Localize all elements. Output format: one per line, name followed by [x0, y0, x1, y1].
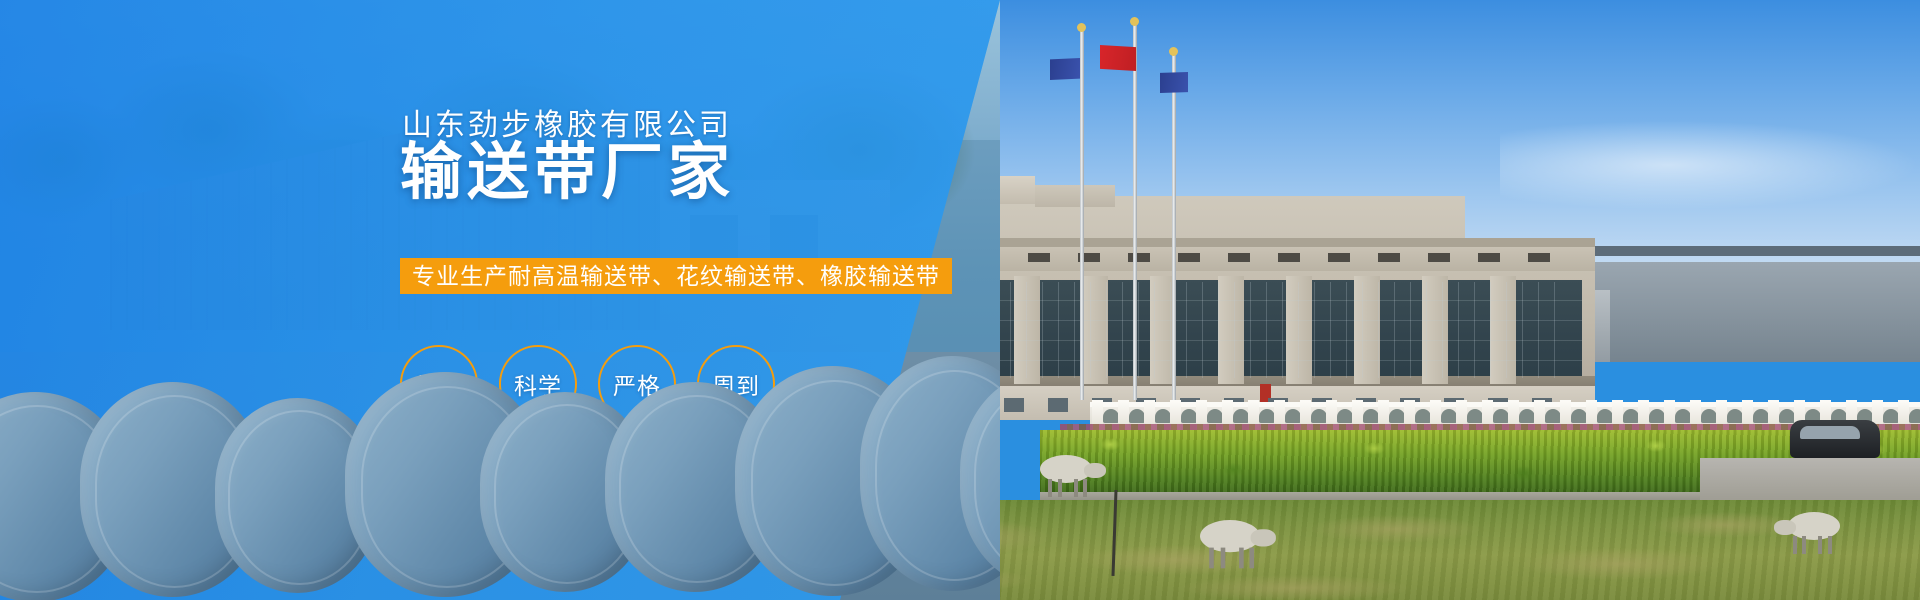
roof-vent	[1328, 253, 1350, 262]
window-mullion	[1554, 282, 1555, 378]
page-title: 输送带厂家	[400, 140, 735, 205]
balustrade-baluster-gap	[1519, 409, 1535, 423]
goat-leg	[1083, 479, 1087, 497]
balustrade-baluster-gap	[1883, 409, 1899, 423]
window-mullion	[1154, 282, 1155, 378]
cloud-wisp	[1500, 120, 1920, 210]
balustrade-baluster-gap	[1129, 409, 1145, 423]
flagpole	[1133, 22, 1137, 400]
roof-vent	[1128, 253, 1150, 262]
window-mullion	[1442, 282, 1443, 378]
window-mullion	[1218, 282, 1219, 378]
company-flag-right	[1160, 72, 1188, 93]
window-rail	[922, 300, 1582, 301]
balustrade-baluster-gap	[1649, 409, 1665, 423]
balustrade-baluster-gap	[1285, 409, 1301, 423]
balustrade-baluster-gap	[1207, 409, 1223, 423]
goat-leg	[1818, 536, 1822, 554]
lawn-dry-patch	[1310, 515, 1480, 543]
rooftop-structure-2	[1035, 185, 1115, 207]
window-mullion	[1058, 282, 1059, 378]
goat-leg	[1048, 479, 1052, 497]
balustrade-baluster-gap	[1467, 409, 1483, 423]
window-mullion	[1106, 282, 1107, 378]
balustrade-baluster-gap	[1415, 409, 1431, 423]
goat-leg	[1802, 536, 1806, 554]
balustrade-baluster-gap	[1727, 409, 1743, 423]
hero-banner: 山东劲步橡胶有限公司 输送带厂家 专业生产耐高温输送带、花纹输送带、橡胶输送带 …	[0, 0, 1920, 600]
balustrade-baluster-gap	[1155, 409, 1171, 423]
goat-head	[1774, 520, 1796, 535]
window-mullion	[1234, 282, 1235, 378]
window-mullion	[1458, 282, 1459, 378]
flagpole-finial	[1077, 23, 1086, 32]
window-mullion	[1314, 282, 1315, 378]
goat-head	[1251, 529, 1276, 546]
ground-floor-window	[1004, 398, 1024, 412]
balustrade-baluster-gap	[1597, 409, 1613, 423]
window-mullion	[1490, 282, 1491, 378]
building-cornice	[905, 238, 1595, 247]
facade-pier	[1286, 276, 1312, 384]
window-mullion	[1138, 282, 1139, 378]
window-mullion	[1330, 282, 1331, 378]
flagpole-finial	[1169, 47, 1178, 56]
window-mullion	[1250, 282, 1251, 378]
window-mullion	[1410, 282, 1411, 378]
lawn-dry-patch	[1180, 575, 1410, 600]
balustrade-baluster-gap	[1337, 409, 1353, 423]
flagpole-finial	[1130, 17, 1139, 26]
facade-pier	[1354, 276, 1380, 384]
facade-pier	[1082, 276, 1108, 384]
car-window	[1800, 426, 1860, 439]
tagline-badge: 专业生产耐高温输送带、花纹输送带、橡胶输送带	[400, 258, 952, 294]
roof-vent	[1028, 253, 1050, 262]
goat-leg	[1058, 479, 1062, 497]
facade-pier	[1014, 276, 1040, 384]
facade-pier	[1490, 276, 1516, 384]
window-mullion	[1346, 282, 1347, 378]
window-mullion	[1522, 282, 1523, 378]
window-rail	[922, 320, 1582, 321]
window-mullion	[1042, 282, 1043, 378]
balustrade-baluster-gap	[1181, 409, 1197, 423]
balustrade-baluster-gap	[1701, 409, 1717, 423]
goat-leg	[1249, 548, 1254, 569]
balustrade-baluster-gap	[1909, 409, 1920, 423]
roof-vent	[1478, 253, 1500, 262]
balustrade-baluster-gap	[1571, 409, 1587, 423]
balustrade-baluster-gap	[1779, 409, 1795, 423]
window-mullion	[1026, 282, 1027, 378]
roof-vent	[1278, 253, 1300, 262]
balustrade-baluster-gap	[1623, 409, 1639, 423]
window-mullion	[1298, 282, 1299, 378]
balustrade-baluster-gap	[1103, 409, 1119, 423]
china-national-flag	[1100, 45, 1136, 71]
balustrade-baluster-gap	[1233, 409, 1249, 423]
balustrade-baluster-gap	[1545, 409, 1561, 423]
window-mullion	[1122, 282, 1123, 378]
balustrade-baluster-gap	[1259, 409, 1275, 423]
window-mullion	[1474, 282, 1475, 378]
window-mullion	[1266, 282, 1267, 378]
window-mullion	[1394, 282, 1395, 378]
balustrade-baluster-gap	[1675, 409, 1691, 423]
goat-head	[1084, 463, 1106, 478]
balustrade-baluster-gap	[1363, 409, 1379, 423]
window-mullion	[1362, 282, 1363, 378]
window-mullion	[1506, 282, 1507, 378]
window-mullion	[1074, 282, 1075, 378]
window-mullion	[1378, 282, 1379, 378]
goat-leg	[1793, 536, 1797, 554]
balustrade-baluster-gap	[1311, 409, 1327, 423]
balustrade-baluster-gap	[1389, 409, 1405, 423]
window-rail	[922, 360, 1582, 361]
window-mullion	[1202, 282, 1203, 378]
window-rail	[922, 340, 1582, 341]
roof-vent	[1528, 253, 1550, 262]
window-mullion	[1282, 282, 1283, 378]
goat-leg	[1239, 548, 1244, 569]
flagpole	[1172, 52, 1176, 400]
goat-leg	[1074, 479, 1078, 497]
window-mullion	[1426, 282, 1427, 378]
balustrade-baluster-gap	[1441, 409, 1457, 423]
window-mullion	[1186, 282, 1187, 378]
company-flag-left	[1050, 58, 1080, 80]
roof-vent	[1378, 253, 1400, 262]
facade-pier	[1218, 276, 1244, 384]
ground-floor-window	[1048, 398, 1068, 412]
roof-vent	[1228, 253, 1250, 262]
lawn-dry-patch	[1520, 548, 1720, 580]
goat-leg	[1221, 548, 1226, 569]
window-mullion	[1010, 282, 1011, 378]
window-mullion	[1170, 282, 1171, 378]
balustrade-baluster-gap	[1753, 409, 1769, 423]
roof-vent	[1428, 253, 1450, 262]
goat-leg	[1828, 536, 1832, 554]
flagpole	[1080, 28, 1084, 400]
window-mullion	[1090, 282, 1091, 378]
goat-leg	[1209, 548, 1214, 569]
balustrade-baluster-gap	[1493, 409, 1509, 423]
roof-vent	[1178, 253, 1200, 262]
window-mullion	[1538, 282, 1539, 378]
